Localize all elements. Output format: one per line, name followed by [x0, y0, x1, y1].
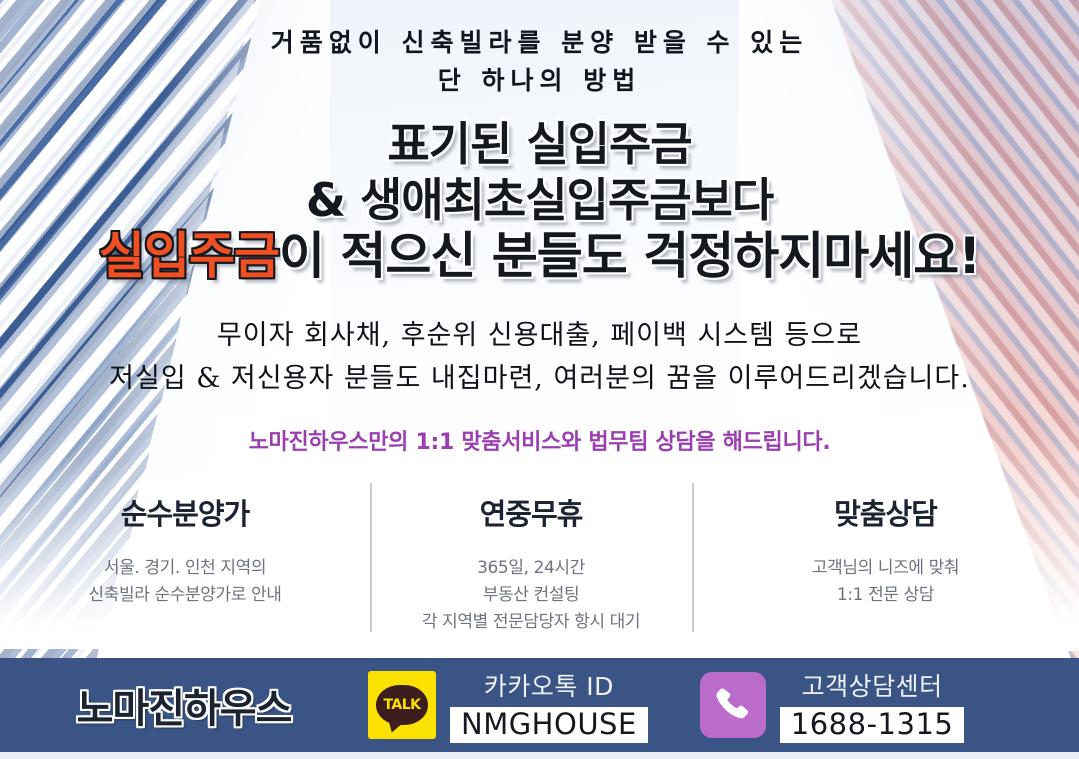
kakaotalk-id-value[interactable]: NMGHOUSE [450, 707, 648, 742]
feature-description: 365일, 24시간 부동산 컨설팅 각 지역별 전문담당자 항시 대기 [370, 555, 692, 636]
kakaotalk-text-group: 카카오톡 ID NMGHOUSE [450, 667, 648, 742]
feature-description: 서울. 경기. 인천 지역의 신축빌라 순수분양가로 안내 [0, 555, 370, 609]
feature-column-pure-price: 순수분양가 서울. 경기. 인천 지역의 신축빌라 순수분양가로 안내 [0, 483, 370, 635]
phone-icon[interactable] [700, 672, 766, 738]
body-copy: 무이자 회사채, 후순위 신용대출, 페이백 시스템 등으로 저실입 & 저신용… [0, 314, 1079, 400]
headline-line-1: 표기된 실입주금 [0, 116, 1079, 172]
headline-accent-word: 실입주금 [99, 227, 279, 285]
brand-name: 노마진하우스 [0, 676, 368, 734]
feature-desc-line: 신축빌라 순수분양가로 안내 [0, 582, 370, 609]
kakaotalk-contact[interactable]: TALK 카카오톡 ID NMGHOUSE [368, 667, 648, 742]
kakaotalk-label: 카카오톡 ID [484, 667, 614, 703]
main-headline: 표기된 실입주금 & 생애최초실입주금보다 실입주금이 적으신 분들도 걱정하지… [0, 116, 1079, 284]
phone-contact[interactable]: 고객상담센터 1688-1315 [700, 667, 965, 742]
footer-bottom-strip [0, 752, 1079, 759]
kakaotalk-icon[interactable]: TALK [368, 671, 436, 739]
footer-contact-bar: 노마진하우스 TALK 카카오톡 ID NMGHOUSE 고객상담센터 1688… [0, 658, 1079, 752]
speech-bubble-icon: TALK [376, 685, 428, 725]
phone-label: 고객상담센터 [802, 667, 943, 703]
body-copy-line-1: 무이자 회사채, 후순위 신용대출, 페이백 시스템 등으로 [0, 314, 1079, 357]
feature-desc-line: 각 지역별 전문담당자 항시 대기 [370, 609, 692, 636]
feature-desc-line: 고객님의 니즈에 맞춰 [692, 555, 1079, 582]
headline-line-3-rest: 이 적으신 분들도 걱정하지마세요! [279, 227, 980, 285]
sub-headline-line-2: 단 하나의 방법 [0, 62, 1079, 100]
kakaotalk-icon-label: TALK [383, 698, 420, 712]
feature-column-open-all-year: 연중무휴 365일, 24시간 부동산 컨설팅 각 지역별 전문담당자 항시 대… [370, 483, 692, 635]
sub-headline: 거품없이 신축빌라를 분양 받을 수 있는 단 하나의 방법 [0, 0, 1079, 100]
sub-headline-line-1: 거품없이 신축빌라를 분양 받을 수 있는 [271, 28, 809, 57]
feature-desc-line: 서울. 경기. 인천 지역의 [0, 555, 370, 582]
feature-desc-line: 1:1 전문 상담 [692, 582, 1079, 609]
advertisement-banner: 거품없이 신축빌라를 분양 받을 수 있는 단 하나의 방법 표기된 실입주금 … [0, 0, 1079, 759]
feature-desc-line: 365일, 24시간 [370, 555, 692, 582]
body-copy-line-2: 저실입 & 저신용자 분들도 내집마련, 여러분의 꿈을 이루어드리겠습니다. [0, 357, 1079, 400]
highlight-message: 노마진하우스만의 1:1 맞춤서비스와 법무팀 상담을 해드립니다. [0, 424, 1079, 456]
feature-column-custom-consulting: 맞춤상담 고객님의 니즈에 맞춰 1:1 전문 상담 [692, 483, 1079, 635]
phone-number-value[interactable]: 1688-1315 [780, 707, 965, 742]
headline-line-2: & 생애최초실입주금보다 [0, 172, 1079, 228]
feature-title: 맞춤상담 [692, 491, 1079, 533]
feature-desc-line: 부동산 컨설팅 [370, 582, 692, 609]
feature-description: 고객님의 니즈에 맞춰 1:1 전문 상담 [692, 555, 1079, 609]
feature-title: 연중무휴 [370, 491, 692, 533]
feature-title: 순수분양가 [0, 491, 370, 533]
headline-line-3: 실입주금이 적으신 분들도 걱정하지마세요! [0, 228, 1079, 284]
feature-columns: 순수분양가 서울. 경기. 인천 지역의 신축빌라 순수분양가로 안내 연중무휴… [0, 483, 1079, 635]
banner-content: 거품없이 신축빌라를 분양 받을 수 있는 단 하나의 방법 표기된 실입주금 … [0, 0, 1079, 456]
phone-text-group: 고객상담센터 1688-1315 [780, 667, 965, 742]
